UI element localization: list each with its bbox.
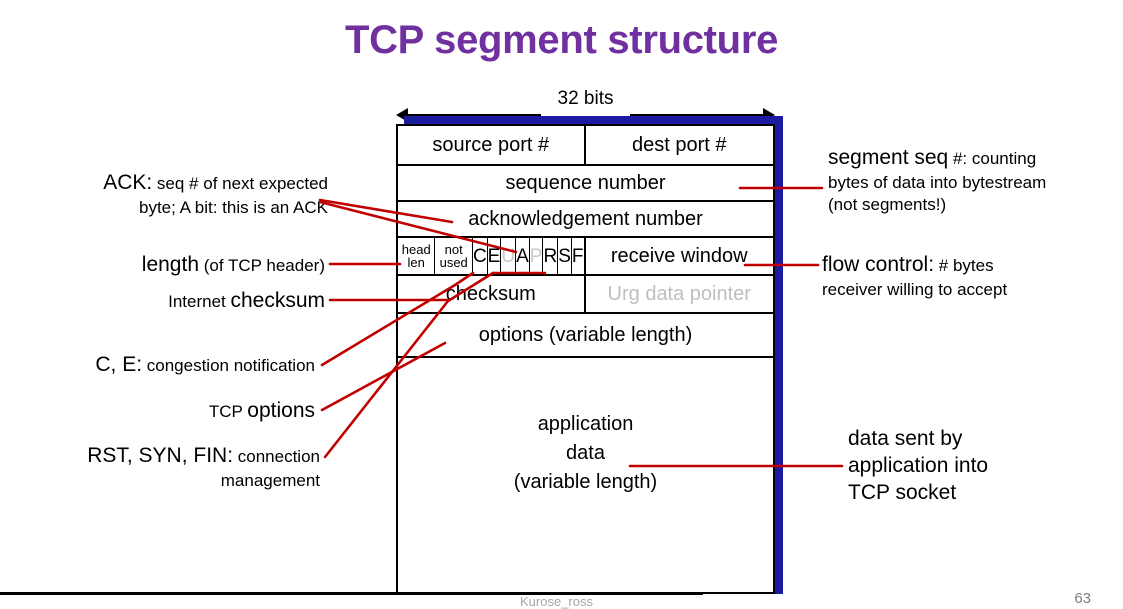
flag-bit-s: S (558, 238, 572, 274)
data-sent-line1: data sent by (848, 426, 1113, 453)
cell-urg-data-pointer: Urg data pointer (586, 276, 774, 312)
tcp-options-label-strong: options (247, 399, 315, 422)
cell-not-used: not used (435, 238, 472, 274)
row-acknowledgement-number: acknowledgement number (398, 202, 773, 238)
annotation-rst-syn-fin: RST, SYN, FIN: connection management (10, 443, 320, 492)
flags-zone: head len not used C E U A P R S F (398, 238, 586, 274)
row-sequence-number: sequence number (398, 166, 773, 202)
annotation-congestion: C, E: congestion notification (10, 352, 315, 379)
footer-source: Kurose_ross (520, 594, 593, 609)
segment-seq-rest: #: counting (948, 149, 1036, 168)
flag-bit-c: C (473, 238, 488, 274)
footer-divider (0, 592, 703, 595)
cell-receive-window: receive window (586, 238, 774, 274)
segment-seq-line3: (not segments!) (828, 194, 1118, 216)
data-sent-line3: TCP socket (848, 480, 1113, 507)
row-checksum: checksum Urg data pointer (398, 276, 773, 314)
application-data-line2: data (566, 439, 605, 468)
segment-seq-line2: bytes of data into bytestream (828, 172, 1118, 194)
tcp-options-label-prefix: TCP (209, 402, 247, 421)
footer-page-number: 63 (1074, 590, 1091, 607)
annotation-length: length (of TCP header) (70, 252, 325, 279)
row-application-data: application data (variable length) (398, 358, 773, 592)
ack-label-line2: byte; A bit: this is an ACK (16, 197, 328, 219)
annotation-data-sent: data sent by application into TCP socket (848, 426, 1113, 507)
not-used-line2: used (440, 256, 468, 269)
annotation-flow-control: flow control: # bytes receiver willing t… (822, 252, 1112, 301)
annotation-checksum: Internet checksum (70, 288, 325, 315)
length-label-rest: (of TCP header) (199, 256, 325, 275)
cell-checksum: checksum (398, 276, 586, 312)
tcp-segment-table: source port # dest port # sequence numbe… (396, 124, 775, 594)
cell-sequence-number: sequence number (398, 166, 773, 200)
row-flags: head len not used C E U A P R S F receiv… (398, 238, 773, 276)
row-options: options (variable length) (398, 314, 773, 358)
checksum-label-prefix: Internet (168, 292, 230, 311)
row-ports: source port # dest port # (398, 126, 773, 166)
flow-control-strong: flow control: (822, 253, 934, 276)
rst-syn-fin-line2: management (10, 470, 320, 492)
ack-label-rest: seq # of next expected (152, 174, 328, 193)
cell-application-data: application data (variable length) (398, 358, 773, 592)
flag-bit-e: E (488, 238, 502, 274)
length-label-strong: length (142, 253, 199, 276)
flag-bit-a: A (516, 238, 530, 274)
ack-label-strong: ACK: (103, 171, 152, 194)
flag-bit-u: U (501, 238, 516, 274)
congestion-label-strong: C, E: (95, 353, 142, 376)
flow-control-line2: receiver willing to accept (822, 279, 1112, 301)
flag-bit-r: R (543, 238, 558, 274)
cell-dest-port: dest port # (586, 126, 774, 164)
congestion-label-rest: congestion notification (142, 356, 315, 375)
segment-seq-strong: segment seq (828, 146, 948, 169)
application-data-line3: (variable length) (514, 468, 657, 497)
application-data-line1: application (538, 410, 634, 439)
flag-bit-p: P (530, 238, 544, 274)
page-title: TCP segment structure (0, 18, 1123, 63)
ruler-label: 32 bits (396, 88, 775, 110)
cell-head-len: head len (398, 238, 435, 274)
slide-canvas: TCP segment structure 32 bits source por… (0, 0, 1123, 609)
cell-acknowledgement-number: acknowledgement number (398, 202, 773, 236)
rst-syn-fin-rest: connection (233, 447, 320, 466)
head-len-line2: len (408, 256, 425, 269)
cell-options: options (variable length) (398, 314, 773, 356)
checksum-label-strong: checksum (230, 289, 325, 312)
annotation-segment-seq: segment seq #: counting bytes of data in… (828, 145, 1118, 215)
flag-bit-f: F (572, 238, 584, 274)
rst-syn-fin-strong: RST, SYN, FIN: (87, 444, 233, 467)
annotation-tcp-options: TCP options (60, 398, 315, 425)
flow-control-rest: # bytes (934, 256, 994, 275)
cell-source-port: source port # (398, 126, 586, 164)
annotation-ack: ACK: seq # of next expected byte; A bit:… (16, 170, 328, 219)
data-sent-line2: application into (848, 453, 1113, 480)
